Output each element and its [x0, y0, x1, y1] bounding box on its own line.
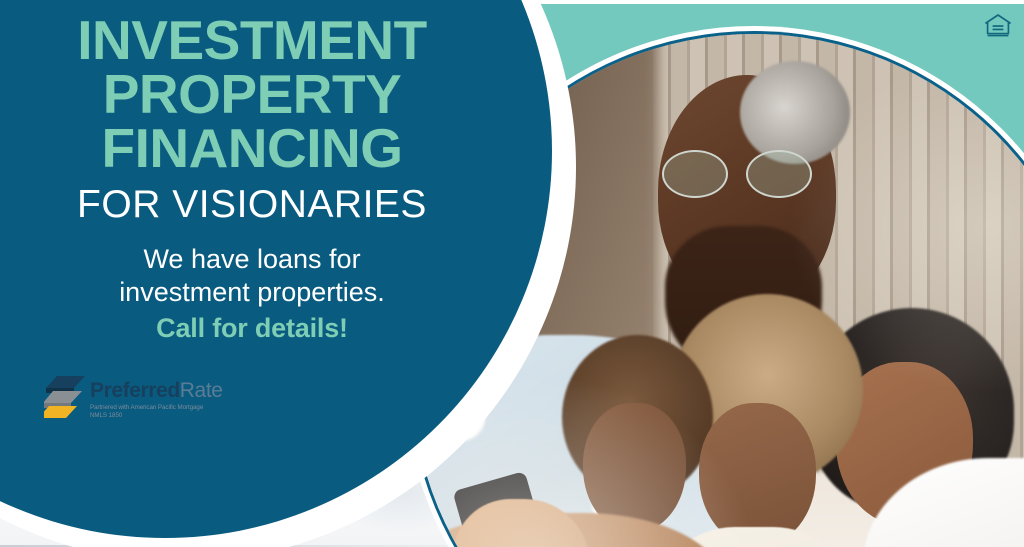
equal-housing-opportunity-icon	[983, 10, 1013, 40]
logo-name-bold: Preferred	[90, 379, 180, 402]
preferred-rate-logo[interactable]: PreferredRate Partnered with American Pa…	[44, 374, 223, 421]
logo-tagline-line-1: Partnered with American Pacific Mortgage	[90, 404, 223, 412]
investment-property-financing-banner: INVESTMENT PROPERTY FINANCING FOR VISION…	[0, 0, 1024, 547]
copy-block: INVESTMENT PROPERTY FINANCING FOR VISION…	[0, 14, 504, 344]
body-copy: We have loans for investment properties.	[0, 243, 504, 309]
body-copy-line-1: We have loans for	[0, 243, 504, 276]
logo-name-light: Rate	[180, 379, 223, 402]
headline: INVESTMENT PROPERTY FINANCING	[0, 14, 504, 176]
logo-tagline: Partnered with American Pacific Mortgage…	[90, 404, 223, 421]
logo-tagline-line-2: NMLS 1850	[90, 412, 223, 420]
preferred-rate-logo-text: PreferredRate Partnered with American Pa…	[90, 374, 223, 421]
headline-line-1: INVESTMENT	[0, 14, 504, 68]
logo-wordmark: PreferredRate	[90, 380, 223, 401]
body-copy-line-2: investment properties.	[0, 276, 504, 309]
subheadline: FOR VISIONARIES	[0, 185, 504, 226]
headline-line-2: PROPERTY	[0, 68, 504, 122]
preferred-rate-logo-mark-icon	[44, 374, 86, 418]
headline-line-3: FINANCING	[0, 122, 504, 176]
call-to-action-text: Call for details!	[0, 313, 504, 344]
